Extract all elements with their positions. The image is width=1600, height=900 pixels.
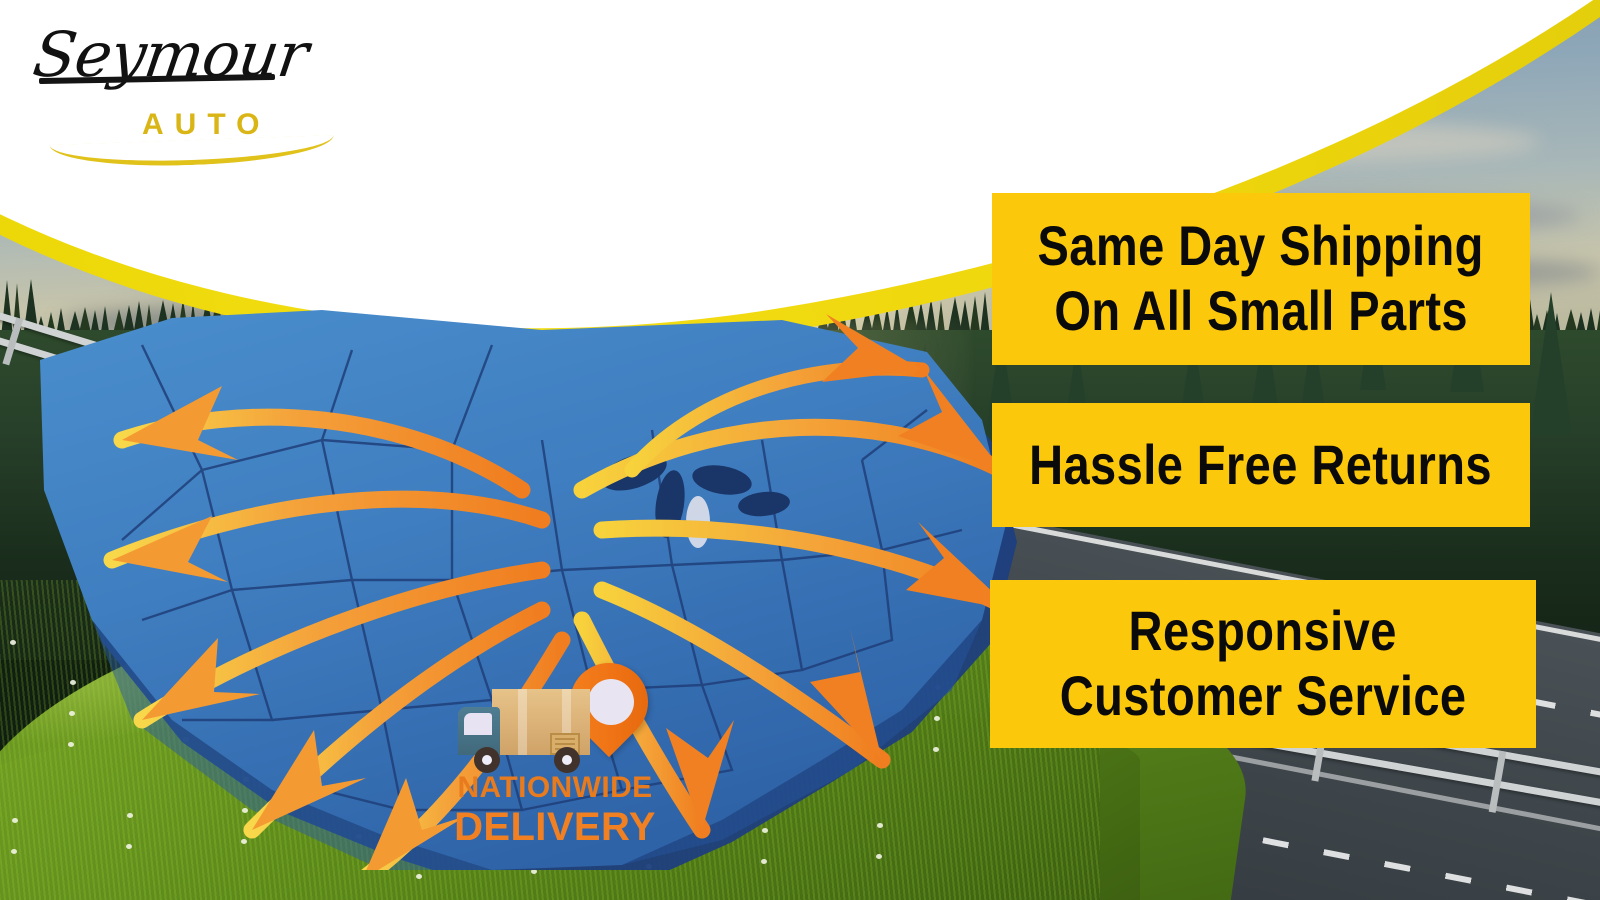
claim-line-1: Same Day Shipping [1038,214,1484,279]
claim-line-1: Hassle Free Returns [1030,433,1493,498]
claim-card-hassle-free-returns[interactable]: Hassle Free Returns [992,403,1530,527]
claim-line-1: Responsive [1129,599,1397,664]
claim-line-2: On All Small Parts [1054,279,1468,344]
claims-panel: Same Day Shipping On All Small Parts Has… [0,0,1600,900]
claim-line-2: Customer Service [1060,664,1467,729]
claim-card-responsive-customer-service[interactable]: Responsive Customer Service [990,580,1536,748]
claim-card-same-day-shipping[interactable]: Same Day Shipping On All Small Parts [992,193,1530,365]
marketing-banner: Seymour AUTO [0,0,1600,900]
